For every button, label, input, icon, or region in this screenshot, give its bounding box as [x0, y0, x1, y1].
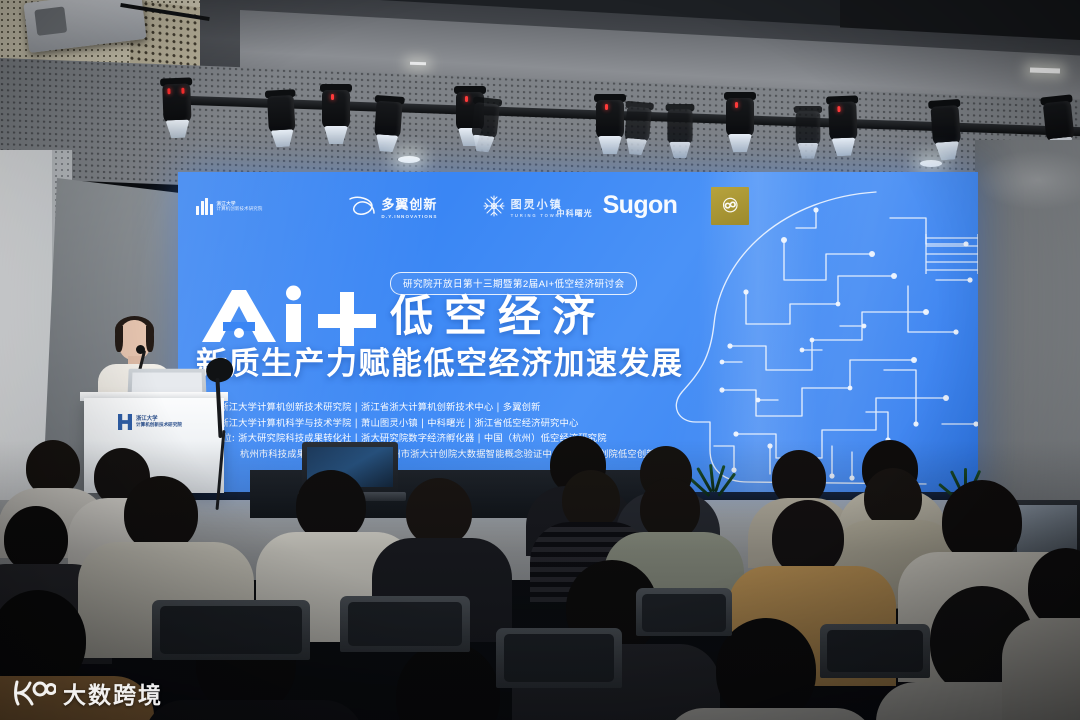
zju-institute-logo-sub: 计算机创新技术研究院	[217, 206, 263, 211]
sponsor-logo-row: 浙江大学 计算机创新技术研究院 多翼创新 D.Y.INNOVATIONS	[192, 186, 962, 226]
watermark: 大数跨境	[12, 676, 163, 710]
ceiling-downlight	[398, 156, 420, 163]
zju-institute-logo: 浙江大学 计算机创新技术研究院	[196, 198, 262, 215]
audience-chair-seatback	[348, 602, 462, 646]
screen-title-cn: 低空经济	[390, 292, 606, 342]
podium-logo: 浙江大学 计算机创新技术研究院	[118, 414, 182, 430]
watermark-logo-icon	[12, 680, 56, 706]
audience-chair-seatback	[827, 630, 923, 672]
dy-innovations-logo: 多翼创新 D.Y.INNOVATIONS	[348, 194, 437, 219]
stage-light	[722, 92, 758, 154]
dy-innovations-logo-cn: 多翼创新	[381, 197, 437, 212]
turing-town-logo: 图灵小镇 TURING TOWN	[482, 194, 563, 218]
dy-swoosh-icon	[348, 195, 376, 217]
stage-light	[619, 101, 655, 158]
zju-institute-mark-icon	[196, 198, 213, 215]
snowflake-icon	[482, 194, 506, 218]
handheld-microphone-head	[136, 345, 145, 354]
podium-org-sub: 计算机创新技术研究院	[136, 422, 182, 427]
turing-town-logo-en: TURING TOWN	[511, 213, 563, 218]
ceiling-light-strip	[1030, 67, 1060, 73]
conference-photo-scene: 浙江大学 计算机创新技术研究院 多翼创新 D.Y.INNOVATIONS	[0, 0, 1080, 720]
audience-chair-seatback	[160, 606, 302, 654]
audience-chair-seatback	[642, 594, 726, 632]
gold-square-logo: ♾	[711, 187, 749, 225]
stage-light	[318, 84, 354, 146]
stage-light	[824, 95, 862, 158]
gold-square-logo-glyph: ♾	[720, 193, 741, 219]
watermark-brand-text: 大数跨境	[63, 676, 163, 710]
ceiling-downlight	[920, 160, 942, 167]
ai-plus-logo-icon	[194, 284, 384, 346]
audience-chair-seatback	[504, 634, 614, 682]
turing-town-logo-cn: 图灵小镇	[511, 199, 563, 211]
credit-line: 协办: 浙江大学计算机科学与技术学院 | 萧山图灵小镇 | 中科曙光 | 浙江省…	[194, 416, 954, 432]
ceiling-light-strip	[410, 62, 426, 66]
credit-line: 单位: 浙江大学计算机创新技术研究院 | 浙江省浙大计算机创新技术中心 | 多翼…	[194, 400, 954, 416]
stage-light	[792, 106, 824, 161]
screen-subtitle: 新质生产力赋能低空经济加速发展	[196, 346, 684, 382]
sugon-logo-cn: 中科曙光	[557, 208, 678, 219]
stage-light	[926, 99, 966, 163]
stage-light	[158, 77, 196, 140]
sugon-logo: Sugon 中科曙光	[603, 193, 678, 219]
dy-innovations-logo-en: D.Y.INNOVATIONS	[381, 214, 437, 219]
stage-light	[466, 96, 504, 155]
speaker-hair-side-right	[146, 326, 154, 352]
stage-light	[263, 89, 300, 150]
right-wall-light-reflection	[975, 150, 1080, 210]
stage-light	[664, 104, 696, 160]
speaker-hair-side-left	[115, 326, 123, 352]
stage-light	[369, 95, 406, 155]
zju-h-mark-icon	[118, 414, 132, 430]
